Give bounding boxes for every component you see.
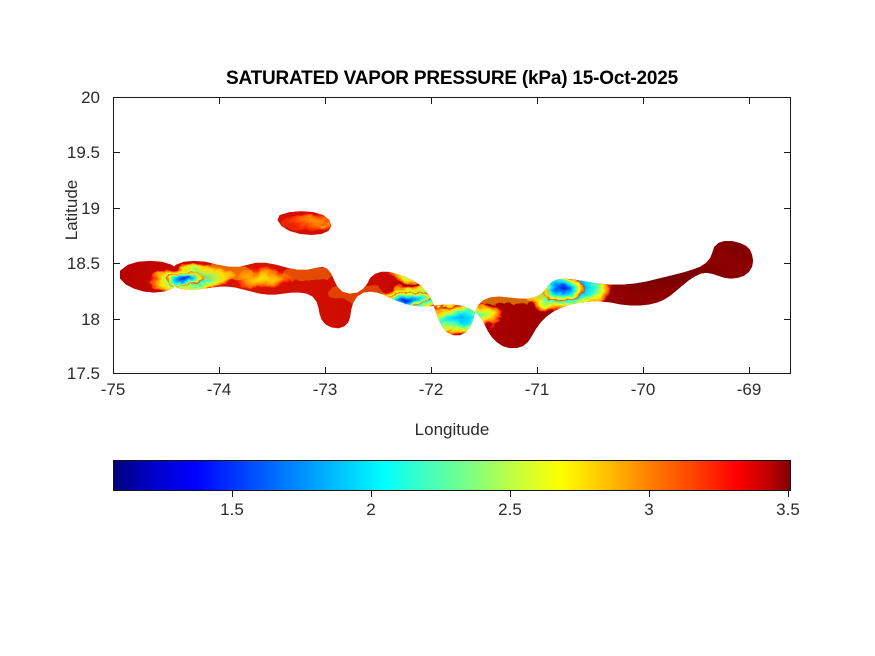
colorbar-label-2.5: 2.5 (475, 500, 545, 520)
colorbar-label-2: 2 (336, 500, 406, 520)
colorbar-gradient (113, 460, 791, 491)
ytick-label-18: 18 (40, 310, 100, 330)
xtick-top--70 (643, 97, 644, 104)
page-title: SATURATED VAPOR PRESSURE (kPa) 15-Oct-20… (113, 68, 791, 90)
land-raster (114, 98, 790, 373)
colorbar-tick-2 (371, 491, 372, 497)
colorbar-label-1.5: 1.5 (197, 500, 267, 520)
vapor-pressure-heatmap (114, 98, 790, 373)
colorbar[interactable] (113, 460, 791, 491)
xtick--72 (431, 367, 432, 374)
xtick-label--70: -70 (603, 380, 683, 400)
xtick-label--73: -73 (285, 380, 365, 400)
x-axis-title: Longitude (113, 420, 791, 440)
colorbar-tick-3 (649, 491, 650, 497)
ytick-18 (113, 319, 120, 320)
xtick-label--71: -71 (497, 380, 577, 400)
xtick--75 (113, 367, 114, 374)
ytick-label-20: 20 (40, 88, 100, 108)
ytick-19.5 (113, 152, 120, 153)
xtick--73 (325, 367, 326, 374)
xtick-top--69 (749, 97, 750, 104)
colorbar-tick-2.5 (510, 491, 511, 497)
ytick-right-18 (784, 319, 791, 320)
xtick-label--69: -69 (709, 380, 789, 400)
figure-canvas: SATURATED VAPOR PRESSURE (kPa) 15-Oct-20… (0, 0, 875, 656)
xtick-label--74: -74 (179, 380, 259, 400)
xtick-top--74 (219, 97, 220, 104)
colorbar-label-3.5: 3.5 (753, 500, 823, 520)
colorbar-tick-1.5 (232, 491, 233, 497)
xtick-top--73 (325, 97, 326, 104)
xtick--69 (749, 367, 750, 374)
ytick-18.5 (113, 263, 120, 264)
xtick--70 (643, 367, 644, 374)
xtick-top--72 (431, 97, 432, 104)
colorbar-label-3: 3 (614, 500, 684, 520)
ytick-right-19 (784, 208, 791, 209)
xtick--74 (219, 367, 220, 374)
ytick-20 (113, 97, 120, 98)
map-axes (113, 97, 791, 374)
xtick-top--71 (537, 97, 538, 104)
xtick-label--72: -72 (391, 380, 471, 400)
xtick--71 (537, 367, 538, 374)
ytick-right-19.5 (784, 152, 791, 153)
y-axis-title: Latitude (62, 120, 82, 300)
ytick-right-18.5 (784, 263, 791, 264)
ytick-19 (113, 208, 120, 209)
xtick-label--75: -75 (73, 380, 153, 400)
colorbar-tick-3.5 (788, 491, 789, 497)
